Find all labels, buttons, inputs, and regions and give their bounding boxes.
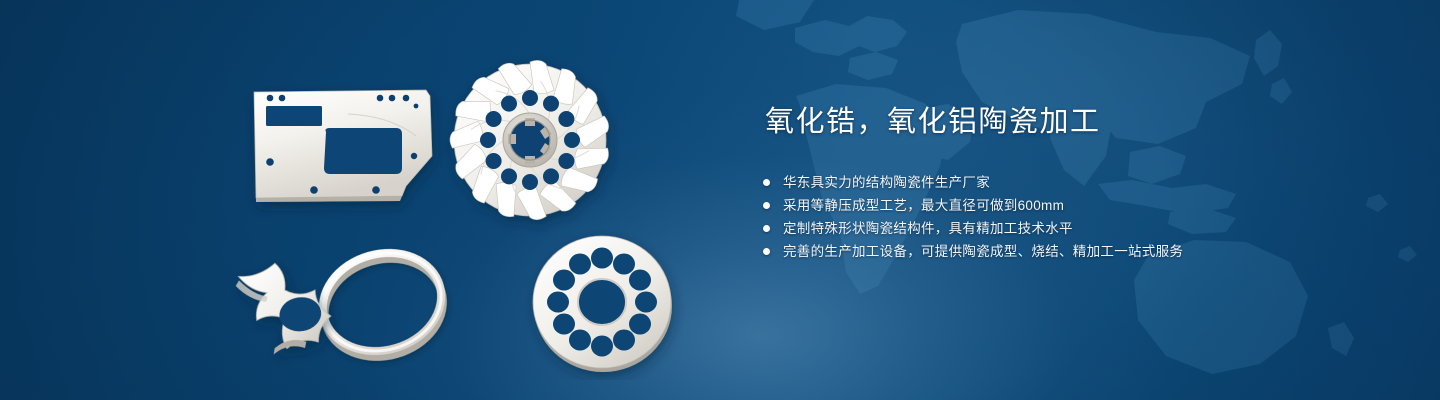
feature-text: 完善的生产加工设备，可提供陶瓷成型、烧结、精加工一站式服务 [783,240,1183,263]
list-item: 完善的生产加工设备，可提供陶瓷成型、烧结、精加工一站式服务 [763,240,1383,263]
hero-banner: 氧化锆，氧化铝陶瓷加工 华东具实力的结构陶瓷件生产厂家 采用等静压成型工艺，最大… [0,0,1440,400]
bullet-dot-icon [763,202,770,209]
ceramic-products-image [230,40,710,380]
ceramic-impeller [448,58,613,223]
bullet-dot-icon [763,248,770,255]
list-item: 定制特殊形状陶瓷结构件，具有精加工技术水平 [763,217,1383,240]
ceramic-cross-plate [233,257,335,359]
ceramic-machined-plate [254,90,432,202]
banner-copy: 氧化锆，氧化铝陶瓷加工 华东具实力的结构陶瓷件生产厂家 采用等静压成型工艺，最大… [763,108,1383,263]
list-item: 采用等静压成型工艺，最大直径可做到600mm [763,194,1383,217]
feature-text: 华东具实力的结构陶瓷件生产厂家 [783,171,990,194]
ceramic-perforated-disc [533,236,672,372]
list-item: 华东具实力的结构陶瓷件生产厂家 [763,171,1383,194]
page-title: 氧化锆，氧化铝陶瓷加工 [765,108,1383,137]
ceramic-seal-ring [311,239,454,370]
feature-list: 华东具实力的结构陶瓷件生产厂家 采用等静压成型工艺，最大直径可做到600mm 定… [763,171,1383,263]
bullet-dot-icon [763,179,770,186]
feature-text: 定制特殊形状陶瓷结构件，具有精加工技术水平 [783,217,1073,240]
feature-text: 采用等静压成型工艺，最大直径可做到600mm [783,194,1064,217]
bullet-dot-icon [763,225,770,232]
